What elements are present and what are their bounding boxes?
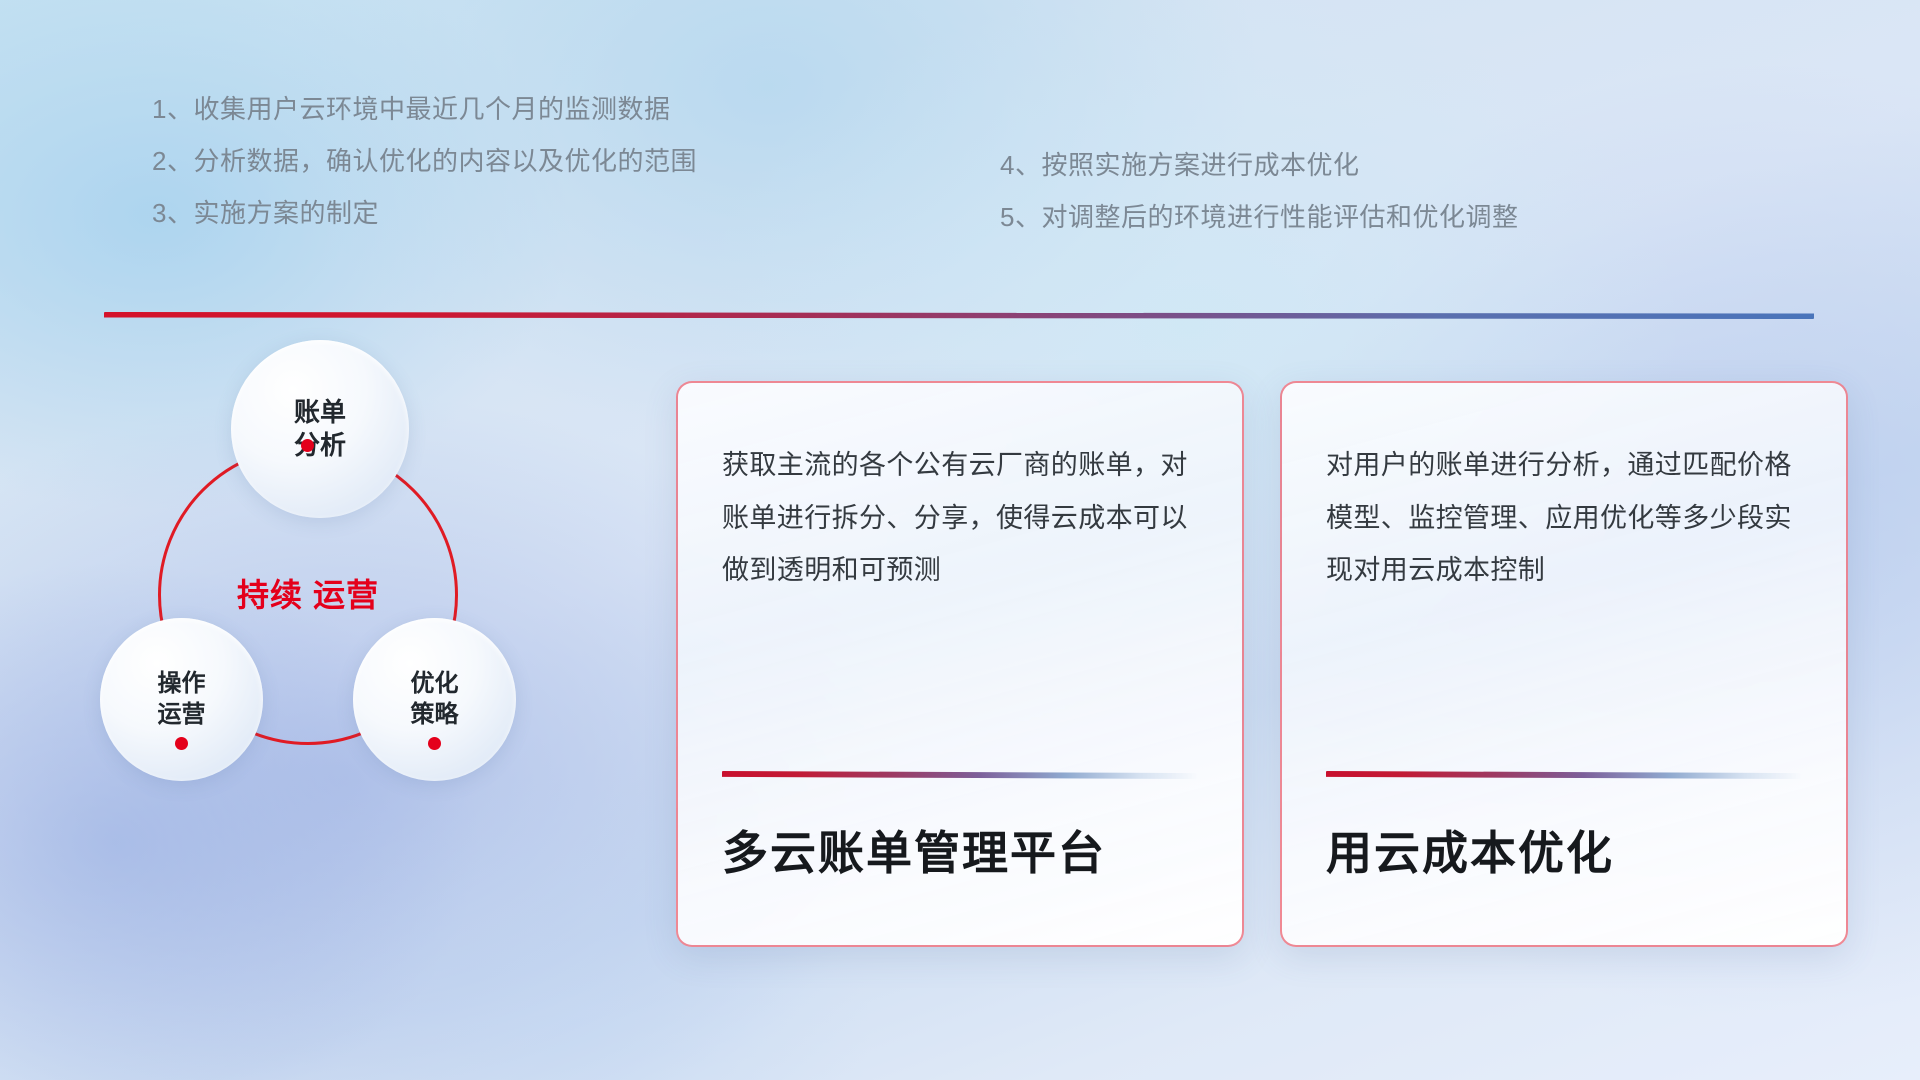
step-item: 1、收集用户云环境中最近几个月的监测数据 (152, 96, 697, 122)
bubble-top-line1: 账单 (294, 396, 346, 429)
bubble-left-line1: 操作 (158, 669, 206, 700)
card-cloud-cost-optimization[interactable]: 对用户的账单进行分析，通过匹配价格模型、监控管理、应用优化等多少段实现对用云成本… (1280, 381, 1848, 947)
card-body-text: 对用户的账单进行分析，通过匹配价格模型、监控管理、应用优化等多少段实现对用云成本… (1326, 439, 1802, 597)
step-item: 3、实施方案的制定 (152, 200, 697, 226)
steps-list-right: 4、按照实施方案进行成本优化 5、对调整后的环境进行性能评估和优化调整 (1000, 152, 1518, 256)
step-item: 4、按照实施方案进行成本优化 (1000, 152, 1518, 178)
card-accent-rule (1326, 771, 1802, 779)
card-body-text: 获取主流的各个公有云厂商的账单，对账单进行拆分、分享，使得云成本可以做到透明和可… (722, 439, 1198, 597)
node-dot-right-icon (428, 737, 441, 750)
node-dot-left-icon (175, 737, 188, 750)
step-item: 5、对调整后的环境进行性能评估和优化调整 (1000, 204, 1518, 230)
node-dot-top-icon (301, 439, 314, 452)
card-accent-rule (722, 771, 1198, 779)
bubble-right-line1: 优化 (411, 669, 459, 700)
card-title: 多云账单管理平台 (722, 779, 1198, 945)
bubble-left-line2: 运营 (158, 700, 206, 731)
bubble-right-line2: 策略 (411, 700, 459, 731)
continuous-operations-diagram: 持续 运营 账单 分析 操作 运营 优化 策略 (100, 340, 570, 960)
card-multicloud-billing[interactable]: 获取主流的各个公有云厂商的账单，对账单进行拆分、分享，使得云成本可以做到透明和可… (676, 381, 1244, 947)
section-divider (104, 312, 1814, 319)
card-title: 用云成本优化 (1326, 779, 1802, 945)
step-item: 2、分析数据，确认优化的内容以及优化的范围 (152, 148, 697, 174)
bubble-operations[interactable]: 操作 运营 (100, 618, 263, 781)
steps-list-left: 1、收集用户云环境中最近几个月的监测数据 2、分析数据，确认优化的内容以及优化的… (152, 96, 697, 252)
slide-canvas: 1、收集用户云环境中最近几个月的监测数据 2、分析数据，确认优化的内容以及优化的… (0, 0, 1920, 1080)
bubble-optimization-strategy[interactable]: 优化 策略 (353, 618, 516, 781)
bubble-bill-analysis[interactable]: 账单 分析 (231, 340, 409, 518)
